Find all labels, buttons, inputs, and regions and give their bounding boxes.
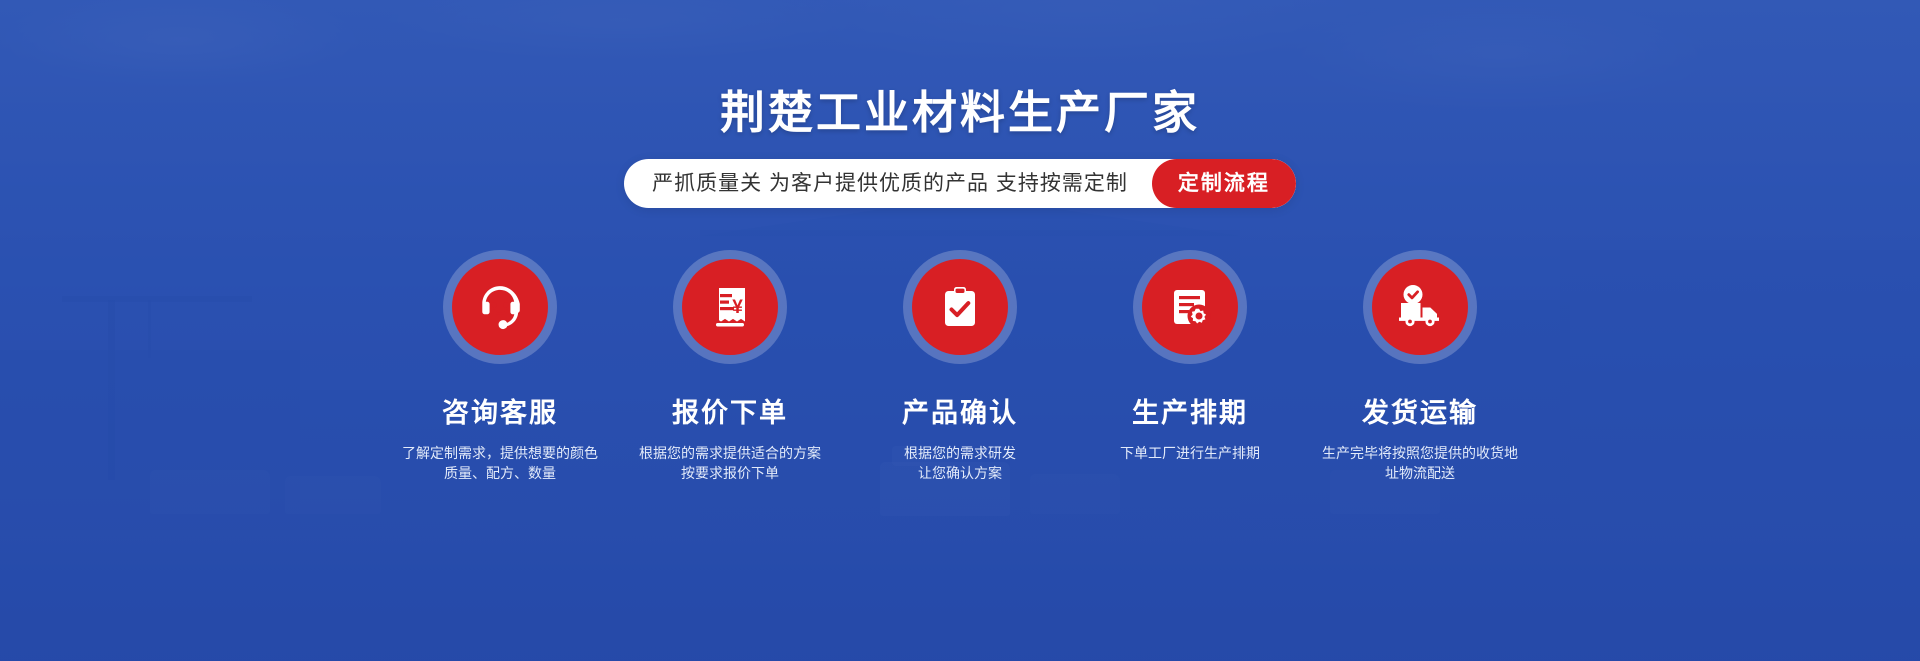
icon-disc [1372, 259, 1468, 355]
step-description-line: 根据您的需求提供适合的方案 [623, 443, 838, 463]
step-description-line: 质量、配方、数量 [393, 463, 608, 483]
process-step[interactable]: 咨询客服 了解定制需求，提供想要的颜色 质量、配方、数量 [385, 250, 615, 484]
step-description: 生产完毕将按照您提供的收货地 址物流配送 [1313, 443, 1528, 484]
slogan-bar: 严抓质量关 为客户提供优质的产品 支持按需定制 定制流程 [0, 159, 1920, 208]
step-title: 生产排期 [1132, 391, 1248, 430]
icon-disc [912, 259, 1008, 355]
step-description: 根据您的需求研发 让您确认方案 [853, 443, 1068, 484]
step-title: 产品确认 [902, 391, 1018, 430]
banner-content: 荆楚工业材料生产厂家 严抓质量关 为客户提供优质的产品 支持按需定制 定制流程 [0, 0, 1920, 661]
custom-process-banner: 荆楚工业材料生产厂家 严抓质量关 为客户提供优质的产品 支持按需定制 定制流程 [0, 0, 1920, 661]
step-title: 发货运输 [1362, 391, 1478, 430]
icon-ring [1363, 250, 1477, 364]
process-steps: 咨询客服 了解定制需求，提供想要的颜色 质量、配方、数量 ¥ [385, 250, 1535, 484]
custom-process-button[interactable]: 定制流程 [1152, 159, 1296, 208]
step-description-line: 址物流配送 [1313, 463, 1528, 483]
delivery-truck-icon [1394, 281, 1446, 333]
step-title: 咨询客服 [442, 391, 558, 430]
clipboard-check-icon [936, 283, 984, 331]
invoice-yuan-icon: ¥ [706, 283, 754, 331]
step-description: 下单工厂进行生产排期 [1083, 443, 1298, 463]
slogan-pill: 严抓质量关 为客户提供优质的产品 支持按需定制 定制流程 [624, 159, 1296, 208]
process-step[interactable]: ¥ 报价下单 根据您的需求提供适合的方案 按要求报价下单 [615, 250, 845, 484]
step-description: 了解定制需求，提供想要的颜色 质量、配方、数量 [393, 443, 608, 484]
slogan-text: 严抓质量关 为客户提供优质的产品 支持按需定制 [652, 159, 1152, 208]
icon-ring [443, 250, 557, 364]
headset-support-icon [475, 282, 525, 332]
page-title: 荆楚工业材料生产厂家 [0, 84, 1920, 143]
icon-disc [452, 259, 548, 355]
icon-disc [1142, 259, 1238, 355]
step-description-line: 了解定制需求，提供想要的颜色 [393, 443, 608, 463]
icon-ring [1133, 250, 1247, 364]
svg-text:¥: ¥ [732, 297, 743, 318]
icon-disc: ¥ [682, 259, 778, 355]
icon-ring [903, 250, 1017, 364]
process-step[interactable]: 生产排期 下单工厂进行生产排期 [1075, 250, 1305, 484]
process-step[interactable]: 产品确认 根据您的需求研发 让您确认方案 [845, 250, 1075, 484]
step-title: 报价下单 [672, 391, 788, 430]
icon-ring: ¥ [673, 250, 787, 364]
step-description-line: 按要求报价下单 [623, 463, 838, 483]
step-description-line: 生产完毕将按照您提供的收货地 [1313, 443, 1528, 463]
process-step[interactable]: 发货运输 生产完毕将按照您提供的收货地 址物流配送 [1305, 250, 1535, 484]
step-description: 根据您的需求提供适合的方案 按要求报价下单 [623, 443, 838, 484]
step-description-line: 下单工厂进行生产排期 [1083, 443, 1298, 463]
document-gear-icon [1166, 283, 1214, 331]
step-description-line: 让您确认方案 [853, 463, 1068, 483]
step-description-line: 根据您的需求研发 [853, 443, 1068, 463]
